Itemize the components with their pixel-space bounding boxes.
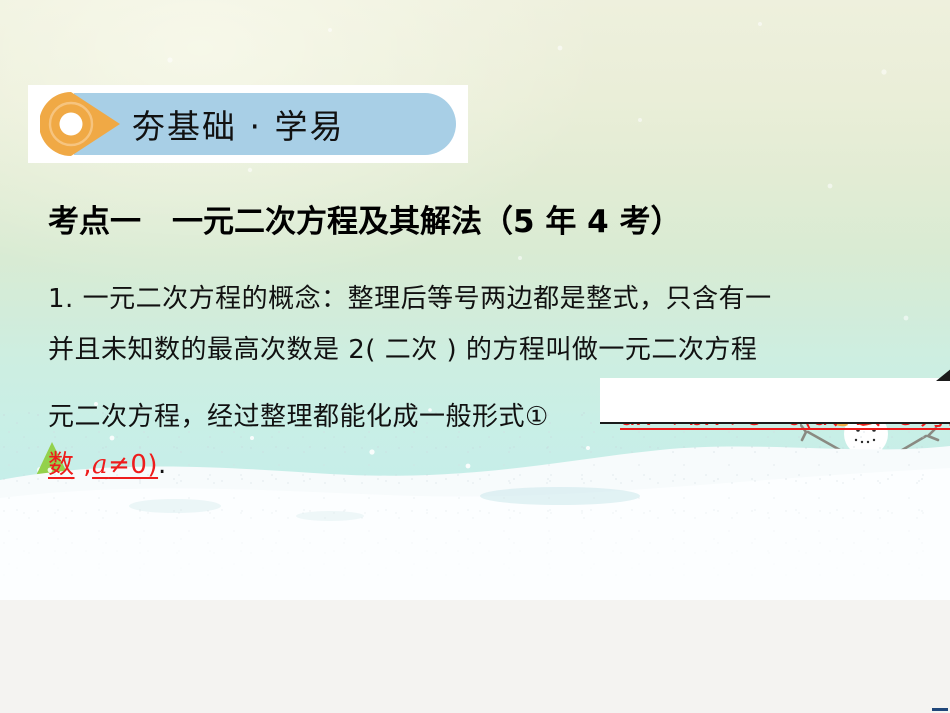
body-line-3-text: 元二次方程，经过整理都能化成一般形式	[48, 402, 525, 432]
white-cover-shape[interactable]	[600, 378, 950, 424]
target-marker-icon	[40, 91, 122, 157]
slide-canvas: 夯基础 · 学易 考点一 一元二次方程及其解法（5 年 4 考） 1. 一元二次…	[0, 0, 950, 713]
shape-corner-marker	[936, 368, 950, 381]
page-title: 考点一 一元二次方程及其解法（5 年 4 考）	[48, 196, 682, 241]
answer-blank-word: 数	[48, 450, 75, 480]
circled-marker: ①	[525, 402, 549, 432]
body-line-4: 数 ,a≠0).	[48, 444, 167, 481]
body-line-3: 元二次方程，经过整理都能化成一般形式①	[48, 396, 549, 433]
header-badge: 夯基础 · 学易	[28, 85, 468, 163]
answer-condition: ≠0)	[108, 450, 158, 480]
body-line-1: 1. 一元二次方程的概念：整理后等号两边都是整式，只含有一	[48, 278, 772, 315]
corner-tick-icon	[932, 708, 948, 711]
variable-a: a	[92, 450, 108, 480]
sentence-period: .	[158, 450, 167, 480]
header-badge-label: 夯基础 · 学易	[132, 85, 344, 163]
page-background-strip	[0, 600, 950, 713]
body-line-2: 并且未知数的最高次数是 2( 二次 ) 的方程叫做一元二次方程	[48, 329, 757, 366]
answer-comma: ,	[75, 450, 93, 480]
